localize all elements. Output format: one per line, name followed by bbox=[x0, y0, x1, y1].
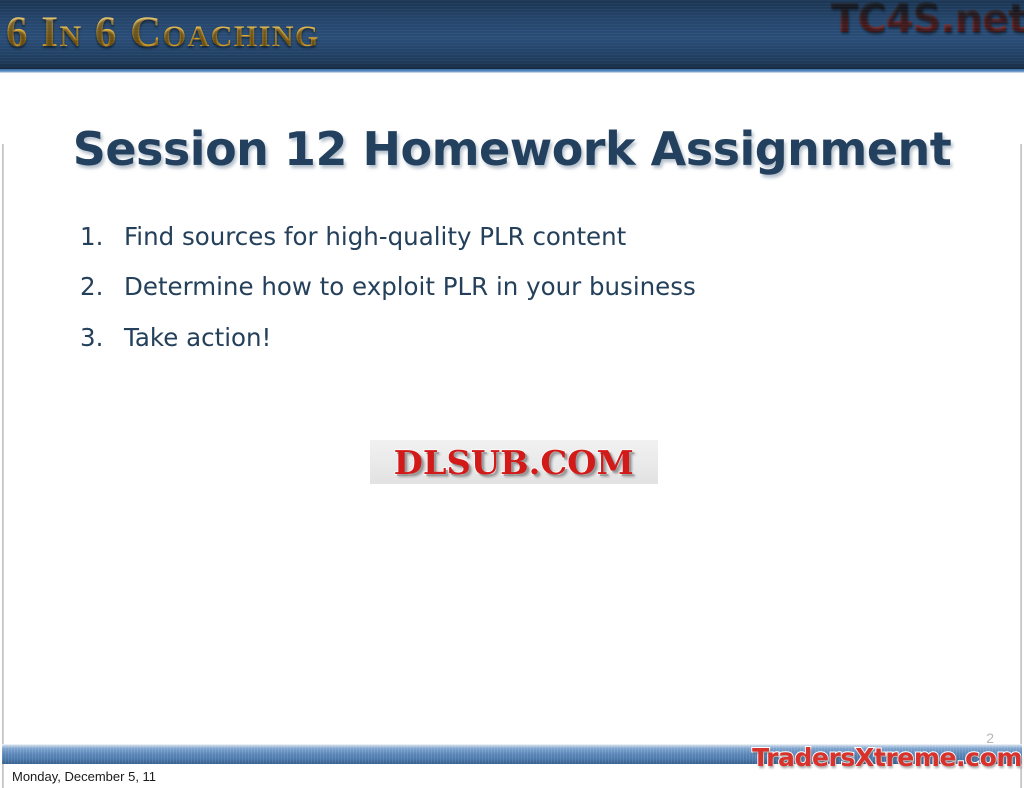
dlsub-watermark-label: DLSUB.COM bbox=[394, 443, 634, 482]
slide-body: Session 12 Homework Assignment 1. Find s… bbox=[2, 74, 1022, 788]
list-item-label: Determine how to exploit PLR in your bus… bbox=[124, 272, 696, 301]
list-item-number: 3. bbox=[80, 323, 124, 352]
dlsub-watermark: DLSUB.COM bbox=[370, 440, 658, 484]
brand-title: 6 In 6 Coaching bbox=[6, 8, 320, 57]
list-item: 3. Take action! bbox=[80, 323, 696, 352]
list-item-label: Find sources for high-quality PLR conten… bbox=[124, 222, 626, 251]
page-title: Session 12 Homework Assignment bbox=[2, 122, 1022, 176]
list-item-number: 2. bbox=[80, 272, 124, 301]
list-item-label: Take action! bbox=[124, 323, 271, 352]
list-item: 2. Determine how to exploit PLR in your … bbox=[80, 272, 696, 301]
brand-url-watermark: TC4S.net bbox=[831, 0, 1024, 42]
homework-task-list: 1. Find sources for high-quality PLR con… bbox=[80, 222, 696, 373]
slide-right-border bbox=[1020, 144, 1022, 788]
list-item-number: 1. bbox=[80, 222, 124, 251]
footer-date: Monday, December 5, 11 bbox=[12, 769, 156, 784]
tradersxtreme-logo: TradersXtreme.com bbox=[752, 743, 1022, 772]
slide-header-band: 6 In 6 Coaching TC4S.net bbox=[0, 0, 1024, 69]
list-item: 1. Find sources for high-quality PLR con… bbox=[80, 222, 696, 251]
header-accent-line bbox=[0, 69, 1024, 73]
presentation-slide: 6 In 6 Coaching TC4S.net Session 12 Home… bbox=[0, 0, 1024, 788]
slide-left-border bbox=[2, 144, 4, 788]
